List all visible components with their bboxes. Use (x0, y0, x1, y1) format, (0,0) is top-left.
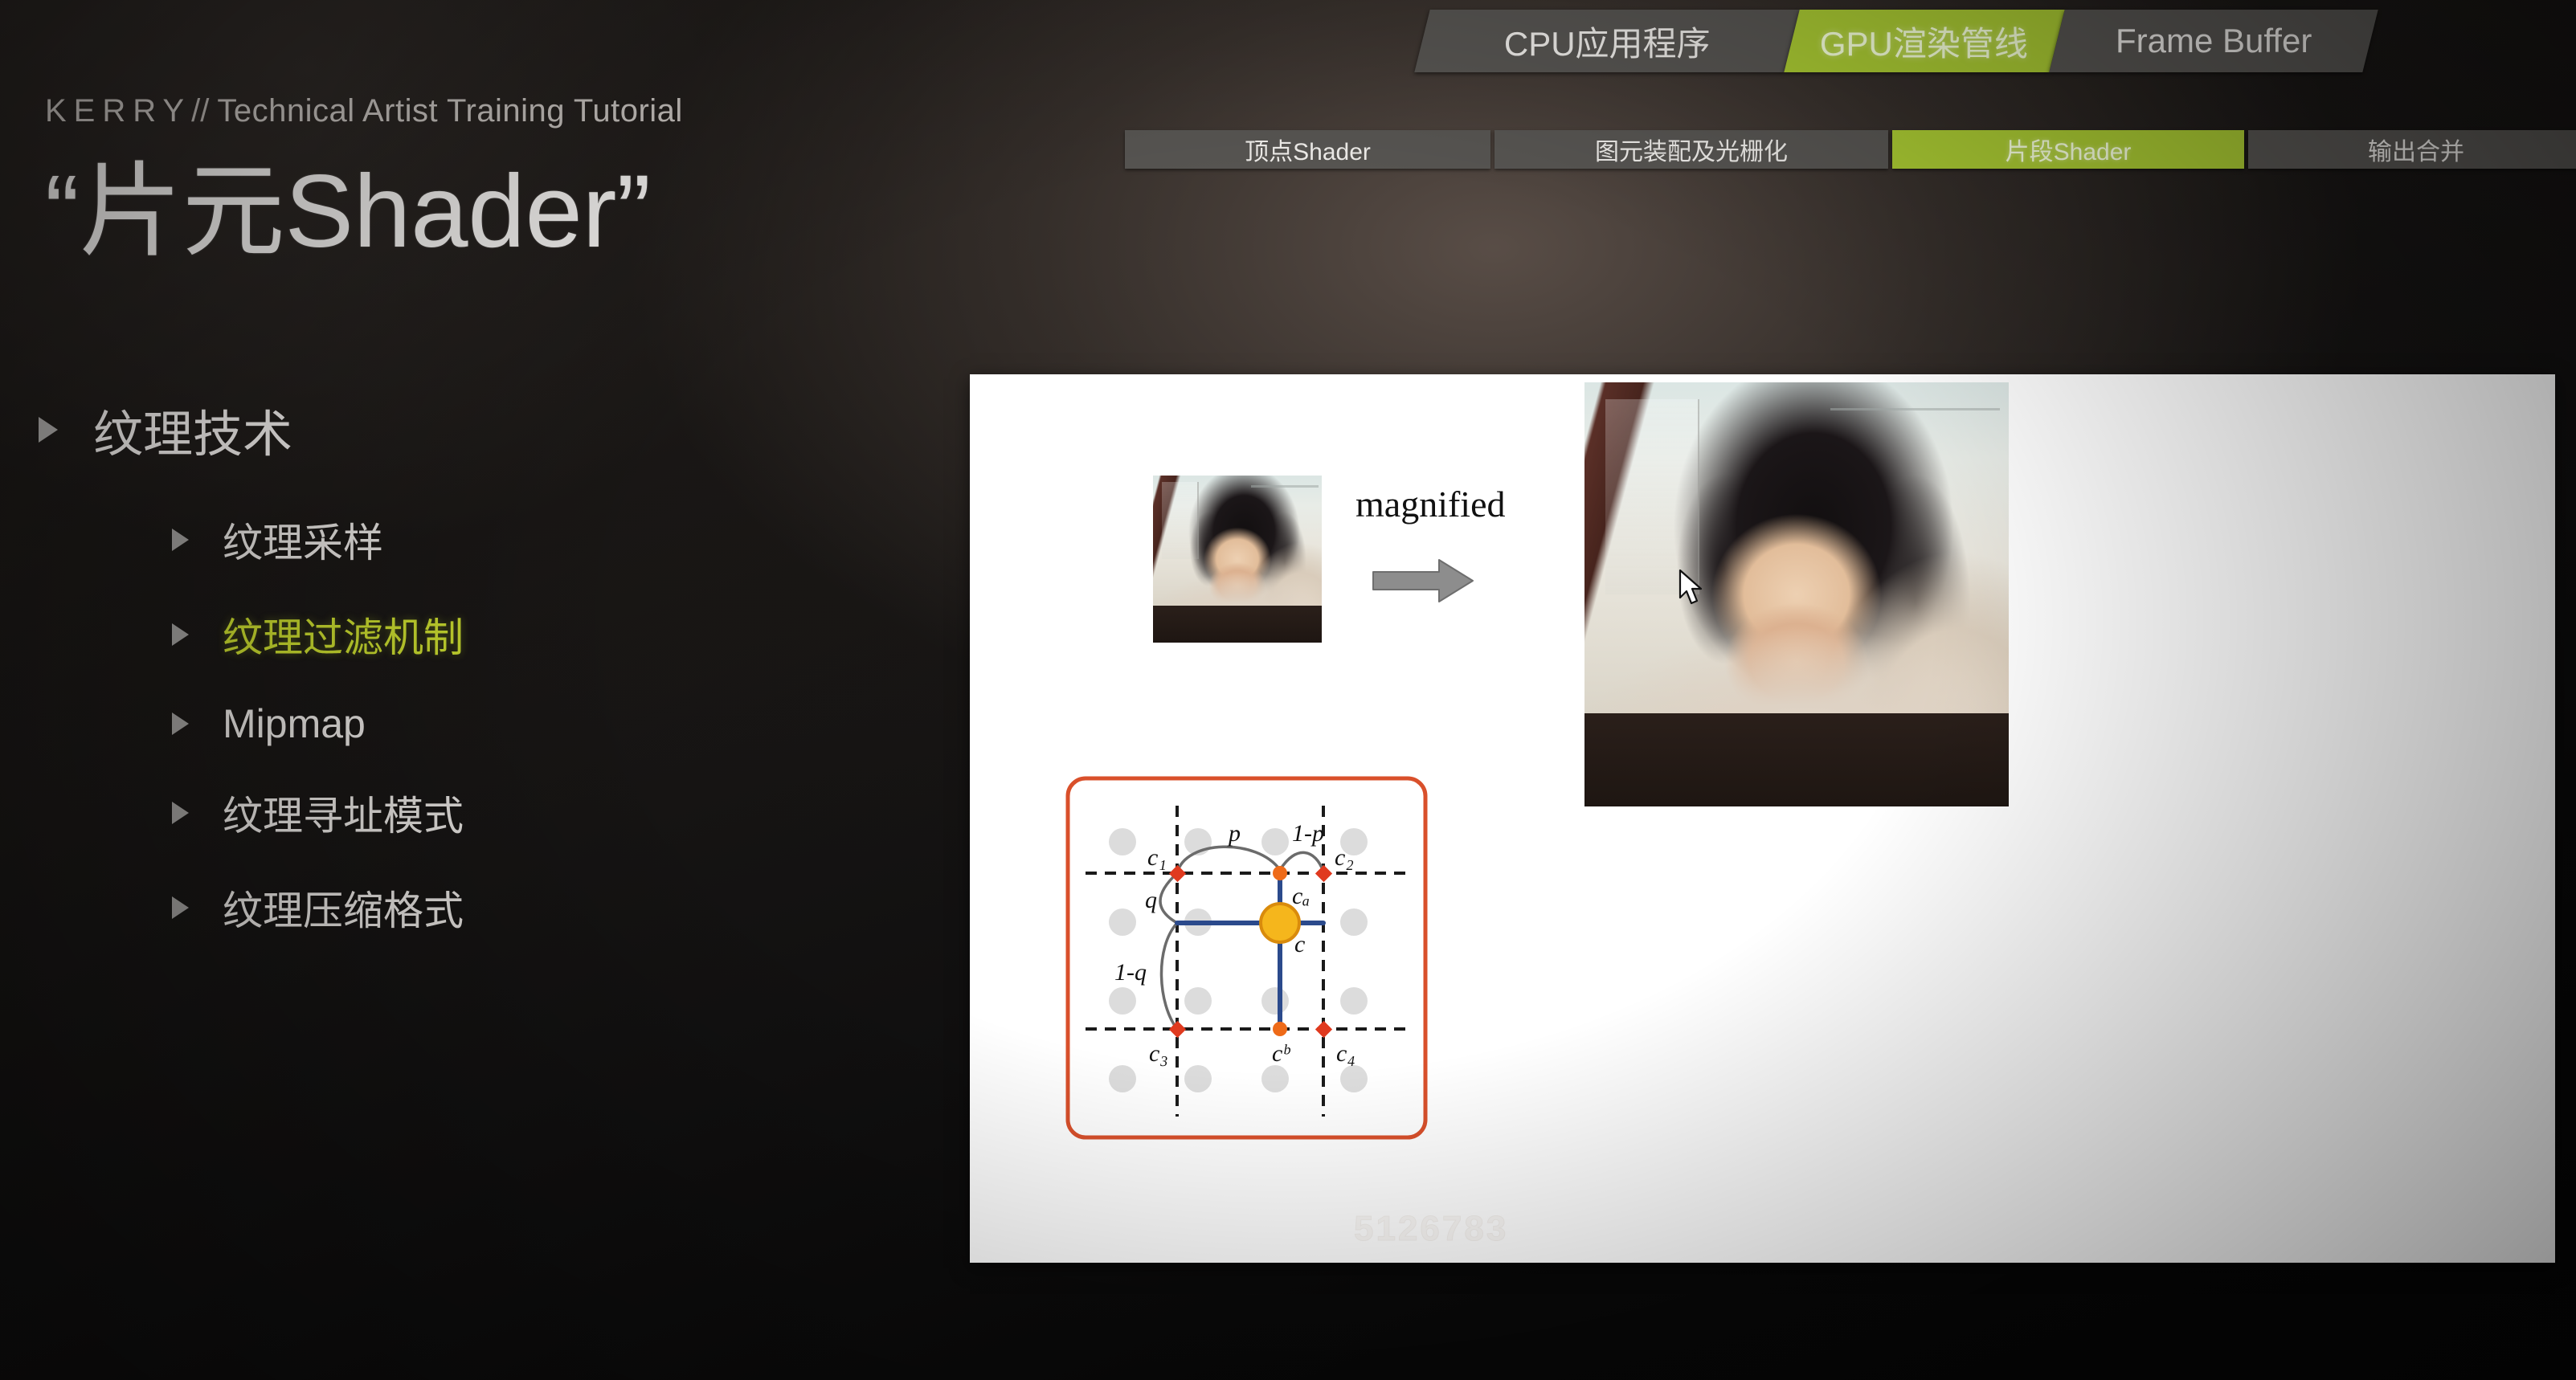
magnified-label: magnified (1355, 483, 1506, 525)
brand-separator: // (191, 93, 209, 129)
nav-subtab-label: 图元装配及光栅化 (1595, 132, 1788, 167)
triangle-bullet-icon (172, 623, 189, 646)
brand-line: KERRY//Technical Artist Training Tutoria… (45, 93, 683, 129)
outline-item-label: 纹理压缩格式 (223, 879, 464, 937)
nav-subtab-output-merger[interactable]: 输出合并 (2248, 130, 2576, 169)
label-one-minus-q: 1-q (1114, 959, 1147, 986)
outline-item-texture-addressing[interactable]: 纹理寻址模式 (39, 784, 938, 842)
magnified-photo (1584, 382, 2009, 806)
outline-item-texture-tech[interactable]: 纹理技术 (39, 394, 938, 466)
outline-item-texture-sampling[interactable]: 纹理采样 (39, 511, 938, 569)
label-c4: c₄ (1336, 1040, 1355, 1067)
page-title: “片元Shader” (45, 161, 651, 263)
nav-subtab-fragment-shader[interactable]: 片段Shader (1892, 130, 2244, 169)
outline-list: 纹理技术 纹理采样 纹理过滤机制 Mipmap 纹理寻址模式 纹理压缩格式 (39, 394, 938, 974)
nav-tab-frame-buffer[interactable]: Frame Buffer (2049, 10, 2378, 72)
label-cb: cᵇ (1272, 1040, 1290, 1067)
nav-subtab-vertex-shader[interactable]: 顶点Shader (1125, 130, 1490, 169)
mouse-cursor-icon (1678, 569, 1707, 607)
bilinear-interpolation-diagram: c₁ c₂ c₃ c₄ cₐ cᵇ c p 1-p q 1-q (1065, 775, 1429, 1141)
outline-item-label: 纹理技术 (93, 394, 292, 466)
triangle-bullet-icon (172, 896, 189, 919)
label-c1: c₁ (1147, 844, 1167, 871)
nav-subtab-label: 输出合并 (2368, 132, 2464, 167)
triangle-bullet-icon (172, 802, 189, 824)
label-c3: c₃ (1149, 1040, 1168, 1067)
content-panel: magnified (970, 374, 2555, 1263)
triangle-bullet-icon (172, 529, 189, 551)
nav-tab-label: Frame Buffer (2116, 22, 2312, 60)
outline-item-label: 纹理采样 (223, 511, 383, 569)
pipeline-nav: CPU应用程序 GPU渲染管线 Frame Buffer 顶点Shader 图元… (1125, 0, 2576, 185)
nav-subtab-label: 片段Shader (2006, 132, 2132, 167)
outline-item-texture-compression[interactable]: 纹理压缩格式 (39, 879, 938, 937)
triangle-bullet-icon (39, 417, 58, 443)
label-one-minus-p: 1-p (1292, 820, 1324, 847)
brand-subtitle: Technical Artist Training Tutorial (217, 93, 682, 129)
label-p: p (1227, 820, 1241, 847)
outline-item-label: Mipmap (223, 700, 366, 747)
label-c2: c₂ (1335, 844, 1354, 871)
pipeline-nav-row-substages: 顶点Shader 图元装配及光栅化 片段Shader 输出合并 (1125, 130, 2576, 169)
outline-item-label: 纹理过滤机制 (223, 606, 464, 663)
pipeline-nav-row-stages: CPU应用程序 GPU渲染管线 Frame Buffer (1125, 10, 2370, 72)
nav-tab-label: GPU渲染管线 (1820, 17, 2028, 66)
triangle-bullet-icon (172, 712, 189, 735)
nav-tab-gpu-pipeline[interactable]: GPU渲染管线 (1784, 10, 2064, 72)
nav-subtab-primitive-assembly-rasterization[interactable]: 图元装配及光栅化 (1494, 130, 1888, 169)
outline-item-mipmap[interactable]: Mipmap (39, 700, 938, 747)
brand-name: KERRY (45, 93, 191, 129)
label-q: q (1145, 887, 1157, 913)
label-ca: cₐ (1292, 883, 1310, 909)
source-photo-thumbnail (1153, 476, 1322, 643)
label-c: c (1294, 931, 1305, 957)
nav-subtab-label: 顶点Shader (1245, 132, 1371, 167)
nav-tab-label: CPU应用程序 (1504, 17, 1711, 66)
nav-tab-cpu-application[interactable]: CPU应用程序 (1414, 10, 1799, 72)
watermark-text: 5126783 (1354, 1209, 1508, 1249)
right-arrow-icon (1372, 557, 1474, 604)
outline-item-texture-filtering[interactable]: 纹理过滤机制 (39, 606, 938, 663)
slide-root: KERRY//Technical Artist Training Tutoria… (0, 0, 2576, 1380)
outline-item-label: 纹理寻址模式 (223, 784, 464, 842)
